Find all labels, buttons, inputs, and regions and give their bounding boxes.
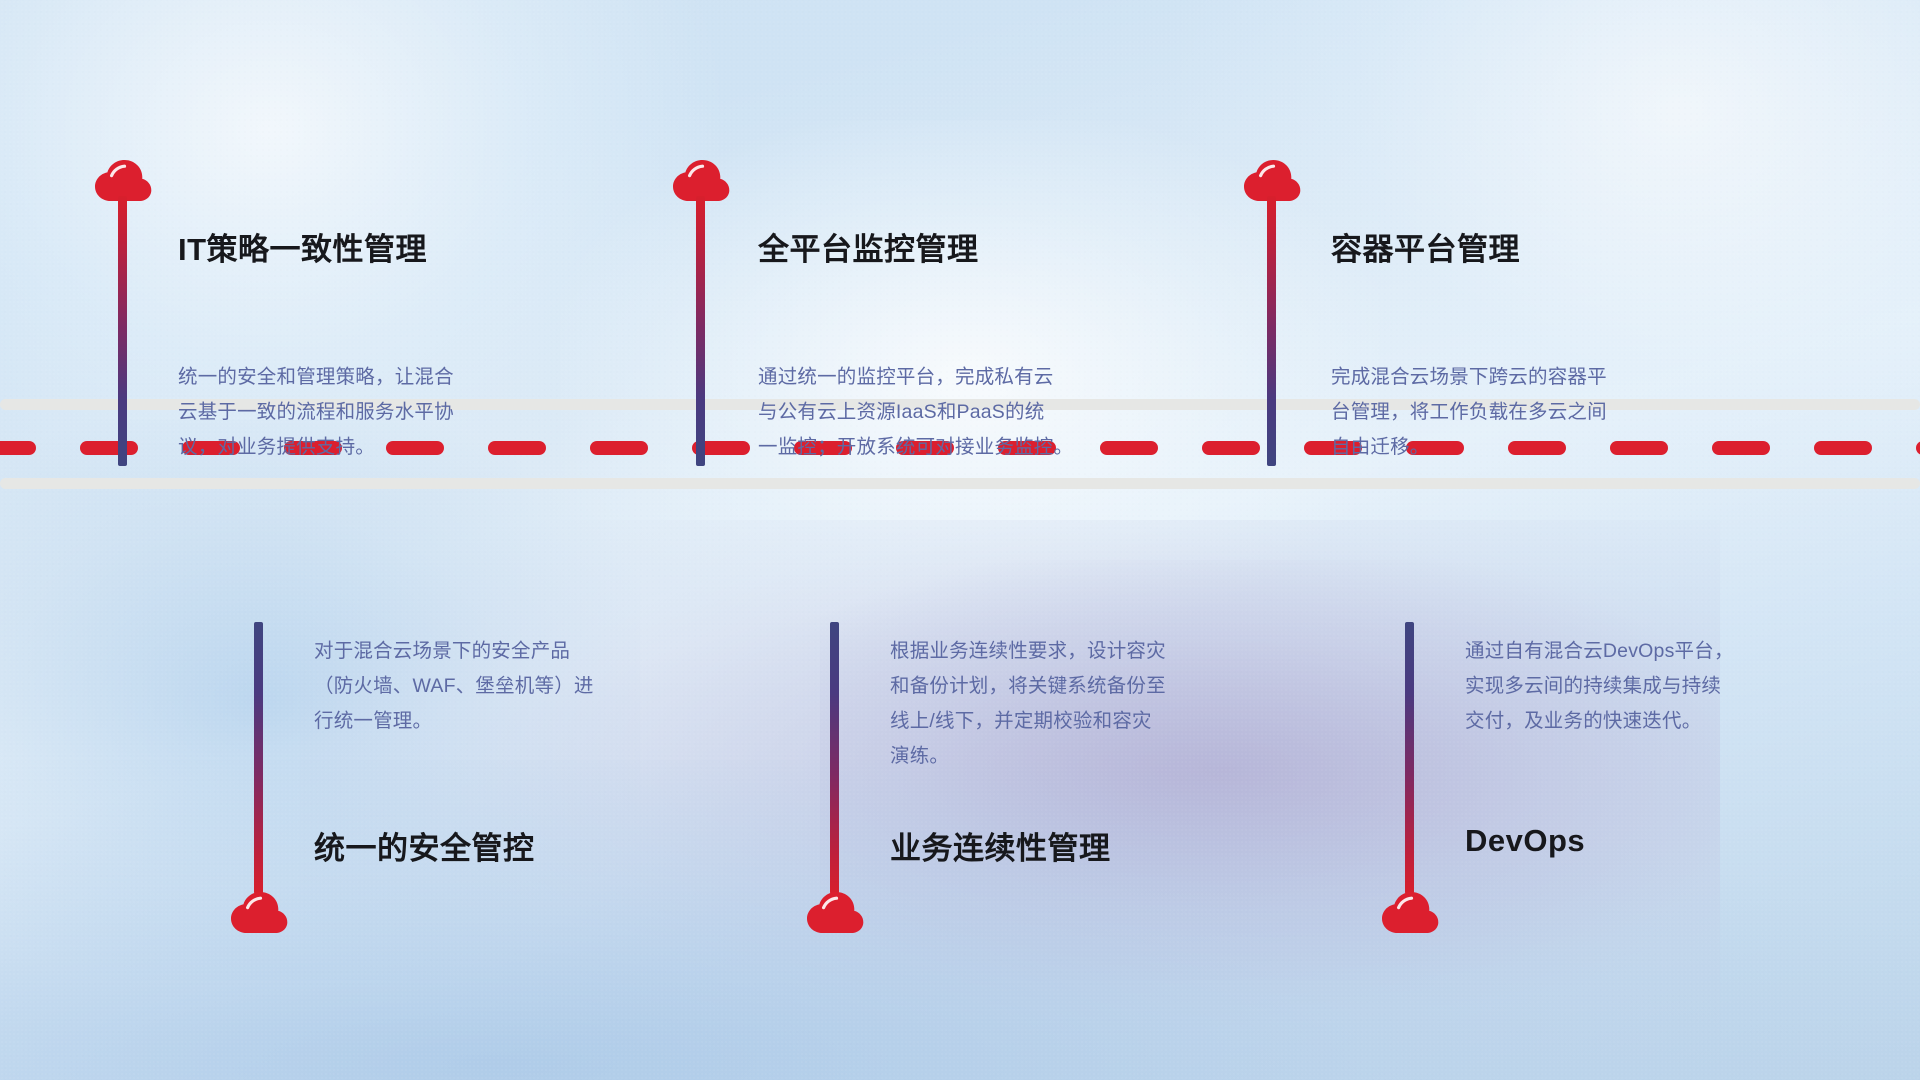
column-stem xyxy=(696,196,705,466)
column-stem xyxy=(118,196,127,466)
column-title: 统一的安全管控 xyxy=(314,823,535,868)
column-body: 通过自有混合云DevOps平台， 实现多云间的持续集成与持续 交付，及业务的快速… xyxy=(1465,634,1895,739)
column-title: 业务连续性管理 xyxy=(890,823,1111,868)
cloud-icon xyxy=(230,890,288,934)
column-stem xyxy=(830,622,839,894)
column-stem xyxy=(1405,622,1414,894)
cloud-icon xyxy=(806,890,864,934)
center-line-dash xyxy=(0,441,36,455)
column-body: 通过统一的监控平台，完成私有云 与公有云上资源IaaS和PaaS的统 一监控；开… xyxy=(758,360,1208,465)
column-title: IT策略一致性管理 xyxy=(178,224,427,269)
center-line-dash xyxy=(80,441,138,455)
column-stem xyxy=(1267,196,1276,466)
column-stem xyxy=(254,622,263,894)
column-title: 容器平台管理 xyxy=(1331,224,1520,269)
background-texture xyxy=(0,0,1920,1080)
infographic-canvas: IT策略一致性管理 统一的安全和管理策略，让混合 云基于一致的流程和服务水平协 … xyxy=(0,0,1920,1080)
center-line-dash xyxy=(1814,441,1872,455)
column-body: 根据业务连续性要求，设计容灾 和备份计划，将关键系统备份至 线上/线下，并定期校… xyxy=(890,634,1320,774)
column-title: DevOps xyxy=(1465,823,1585,859)
cloud-icon xyxy=(1381,890,1439,934)
center-line-dash xyxy=(1202,441,1260,455)
column-body: 统一的安全和管理策略，让混合 云基于一致的流程和服务水平协 议，对业务提供支持。 xyxy=(178,360,618,465)
road-rail-bottom xyxy=(0,478,1920,489)
column-body: 完成混合云场景下跨云的容器平 台管理，将工作负载在多云之间 自由迁移。 xyxy=(1331,360,1771,465)
column-body: 对于混合云场景下的安全产品 （防火墙、WAF、堡垒机等）进 行统一管理。 xyxy=(314,634,744,739)
column-title: 全平台监控管理 xyxy=(758,224,979,269)
